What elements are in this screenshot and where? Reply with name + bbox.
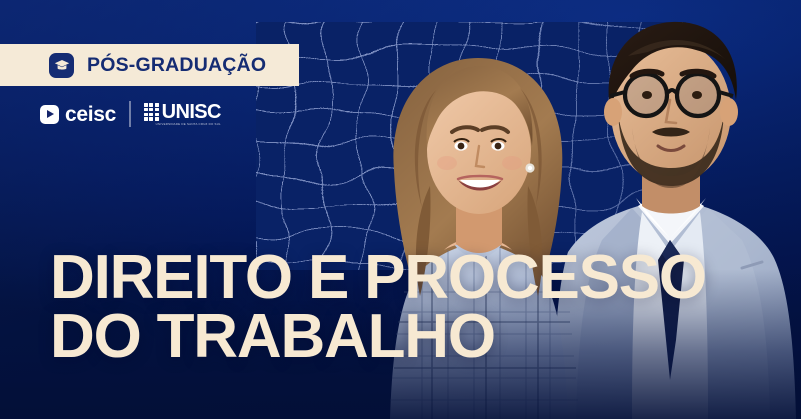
- tag-label: PÓS-GRADUAÇÃO: [87, 54, 266, 77]
- pos-graduacao-tag: PÓS-GRADUAÇÃO: [0, 44, 299, 86]
- logo-row: ceisc UNISC UNIVERSIDADE DE SANTA CRUZ D…: [40, 101, 221, 127]
- graduation-cap-icon: [49, 53, 74, 78]
- page-title: DIREITO E PROCESSO DO TRABALHO: [50, 249, 706, 367]
- logo-divider: [129, 101, 131, 127]
- unisc-grid-icon: [144, 103, 159, 120]
- unisc-wordmark: UNISC: [162, 102, 221, 122]
- promo-banner: PÓS-GRADUAÇÃO ceisc UNISC UNIVERSIDADE D…: [0, 0, 801, 419]
- ceisc-wordmark: ceisc: [65, 104, 116, 125]
- play-button-icon: [40, 105, 59, 124]
- headline-line-1: DIREITO E PROCESSO: [50, 249, 706, 308]
- unisc-subtitle: UNIVERSIDADE DE SANTA CRUZ DO SUL: [144, 123, 221, 126]
- earring-icon: [525, 163, 534, 172]
- ceisc-logo: ceisc: [40, 104, 116, 125]
- headline-line-2: DO TRABALHO: [50, 308, 706, 367]
- unisc-logo: UNISC UNIVERSIDADE DE SANTA CRUZ DO SUL: [144, 102, 221, 126]
